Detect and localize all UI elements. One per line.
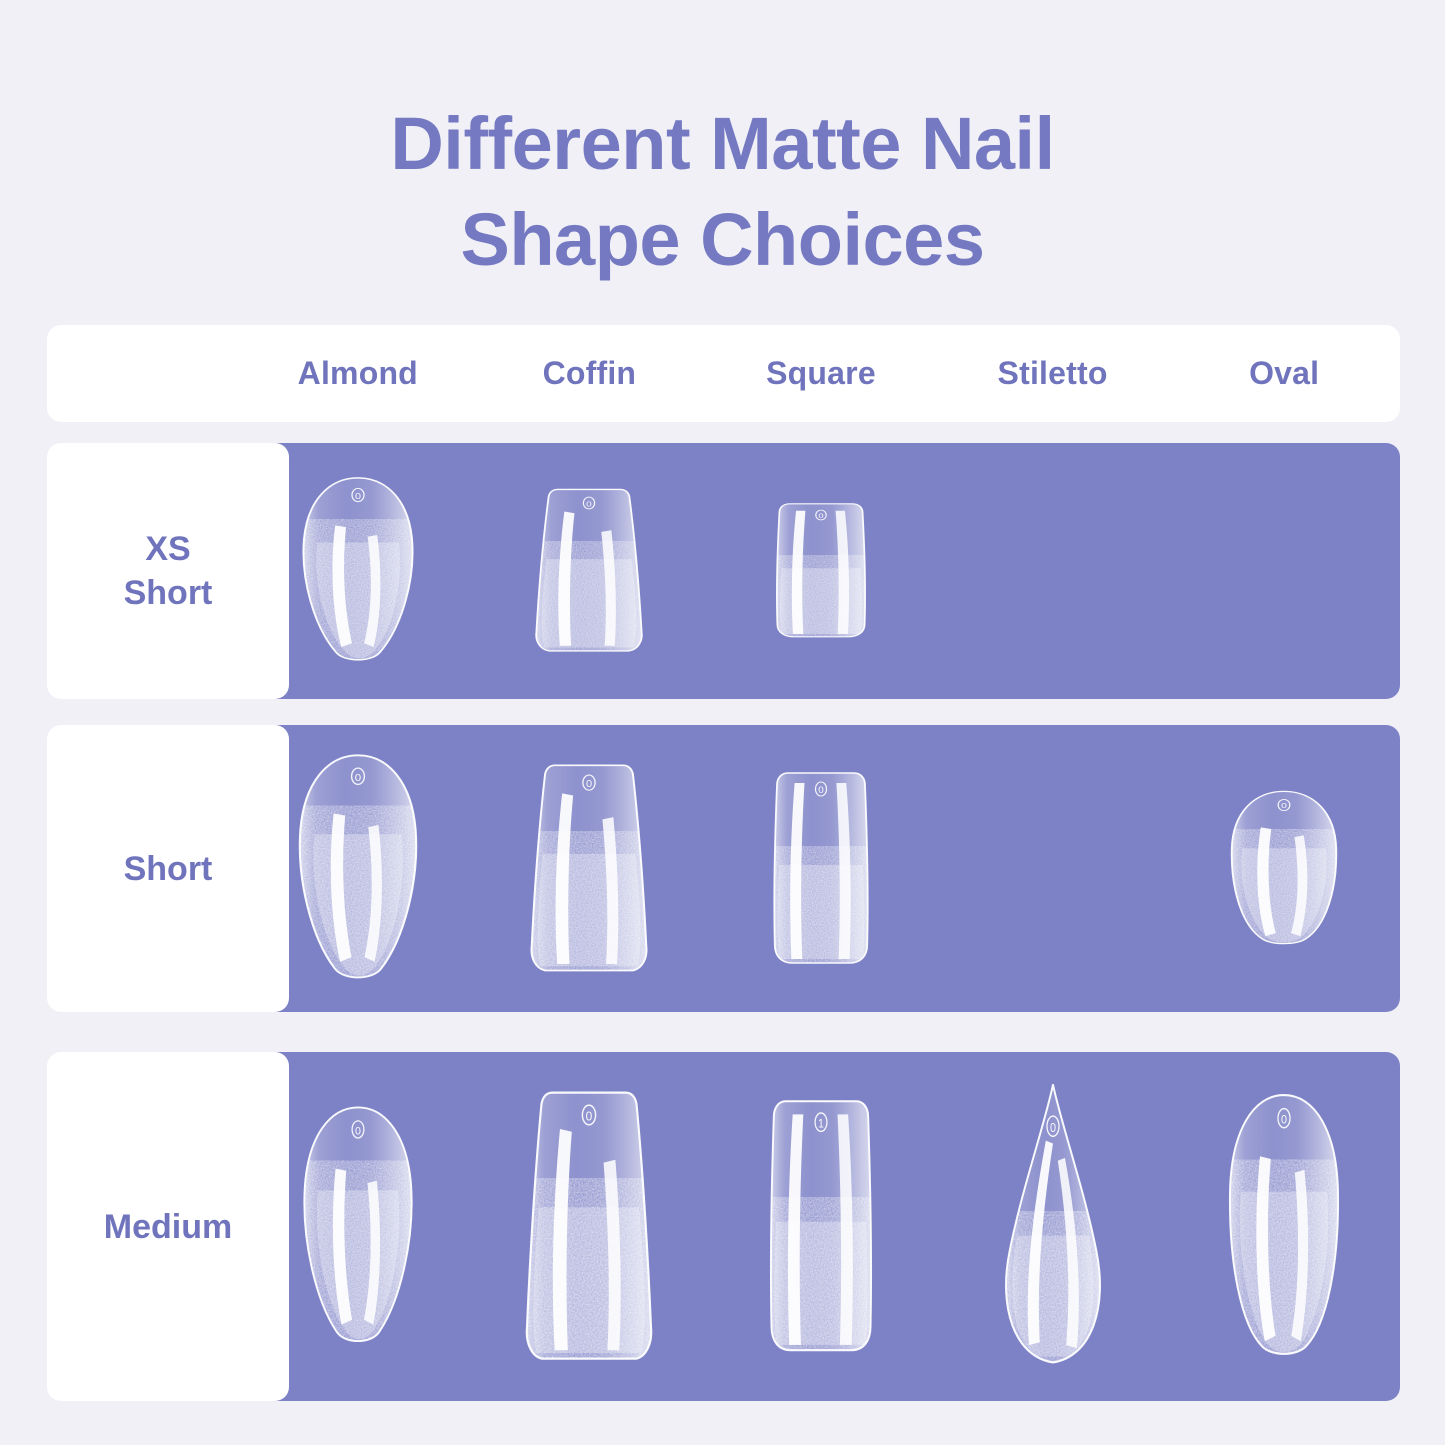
column-header-coffin[interactable]: Coffin [474,355,706,392]
title-line-2: Shape Choices [0,192,1445,288]
row-label-card-xs-short: XS Short [47,443,289,699]
svg-text:0: 0 [1281,1114,1287,1127]
cell-xs-short-stiletto [937,443,1169,699]
cell-medium-square[interactable]: 1 [705,1052,937,1401]
nail-tip-coffin: 0 [533,486,645,656]
column-header-almond[interactable]: Almond [242,355,474,392]
column-header-oval[interactable]: Oval [1168,355,1400,392]
page-title: Different Matte Nail Shape Choices [0,96,1445,288]
svg-text:0: 0 [587,500,593,509]
row-label-xs-short: XS Short [124,527,213,615]
cell-short-square[interactable]: 0 [705,725,937,1012]
nail-tip-oval: 0 [1224,1091,1344,1363]
nail-tip-square: 0 [766,769,876,969]
row-label-medium: Medium [104,1205,232,1249]
row-cells-medium: 0 0 1 0 0 [242,1052,1400,1401]
svg-text:0: 0 [818,512,824,519]
row-label-short: Short [124,847,213,891]
nail-tip-coffin: 0 [528,761,650,977]
nail-tip-almond: 0 [299,1105,417,1349]
nail-tip-almond: 0 [298,476,418,666]
svg-text:1: 1 [818,1117,824,1130]
cell-xs-short-coffin[interactable]: 0 [474,443,706,699]
row-medium: 0 0 1 0 0 Medium [47,1052,1400,1401]
cell-medium-coffin[interactable]: 0 [474,1052,706,1401]
column-header-stiletto[interactable]: Stiletto [937,355,1169,392]
svg-text:0: 0 [355,492,362,502]
cell-medium-stiletto[interactable]: 0 [937,1052,1169,1401]
row-cells-xs-short: 0 0 0 [242,443,1400,699]
row-xs-short: 0 0 0 XS Short [47,443,1400,699]
svg-text:0: 0 [586,779,592,789]
column-header-square[interactable]: Square [705,355,937,392]
svg-text:0: 0 [355,772,361,783]
svg-text:0: 0 [1281,801,1287,809]
nail-shape-chart: Different Matte Nail Shape Choices Almon… [0,0,1445,1445]
cell-short-coffin[interactable]: 0 [474,725,706,1012]
title-line-1: Different Matte Nail [0,96,1445,192]
nail-tip-oval: 0 [1226,789,1342,949]
nail-tip-square: 1 [762,1096,880,1358]
nail-tip-coffin: 0 [523,1087,655,1367]
cell-short-stiletto [937,725,1169,1012]
nail-tip-stiletto: 0 [993,1083,1113,1371]
row-label-card-medium: Medium [47,1052,289,1401]
cell-short-oval[interactable]: 0 [1168,725,1400,1012]
svg-text:0: 0 [1050,1120,1056,1135]
row-short: 0 0 0 0 Short [47,725,1400,1012]
cell-xs-short-square[interactable]: 0 [705,443,937,699]
nail-tip-almond: 0 [294,753,422,985]
svg-text:0: 0 [586,1109,593,1123]
row-cells-short: 0 0 0 0 [242,725,1400,1012]
svg-text:0: 0 [818,785,824,795]
column-header-card: Almond Coffin Square Stiletto Oval [47,325,1400,422]
cell-xs-short-oval [1168,443,1400,699]
nail-tip-square: 0 [769,501,873,641]
column-header-list: Almond Coffin Square Stiletto Oval [242,325,1400,422]
svg-text:0: 0 [355,1125,361,1137]
cell-medium-oval[interactable]: 0 [1168,1052,1400,1401]
row-label-card-short: Short [47,725,289,1012]
